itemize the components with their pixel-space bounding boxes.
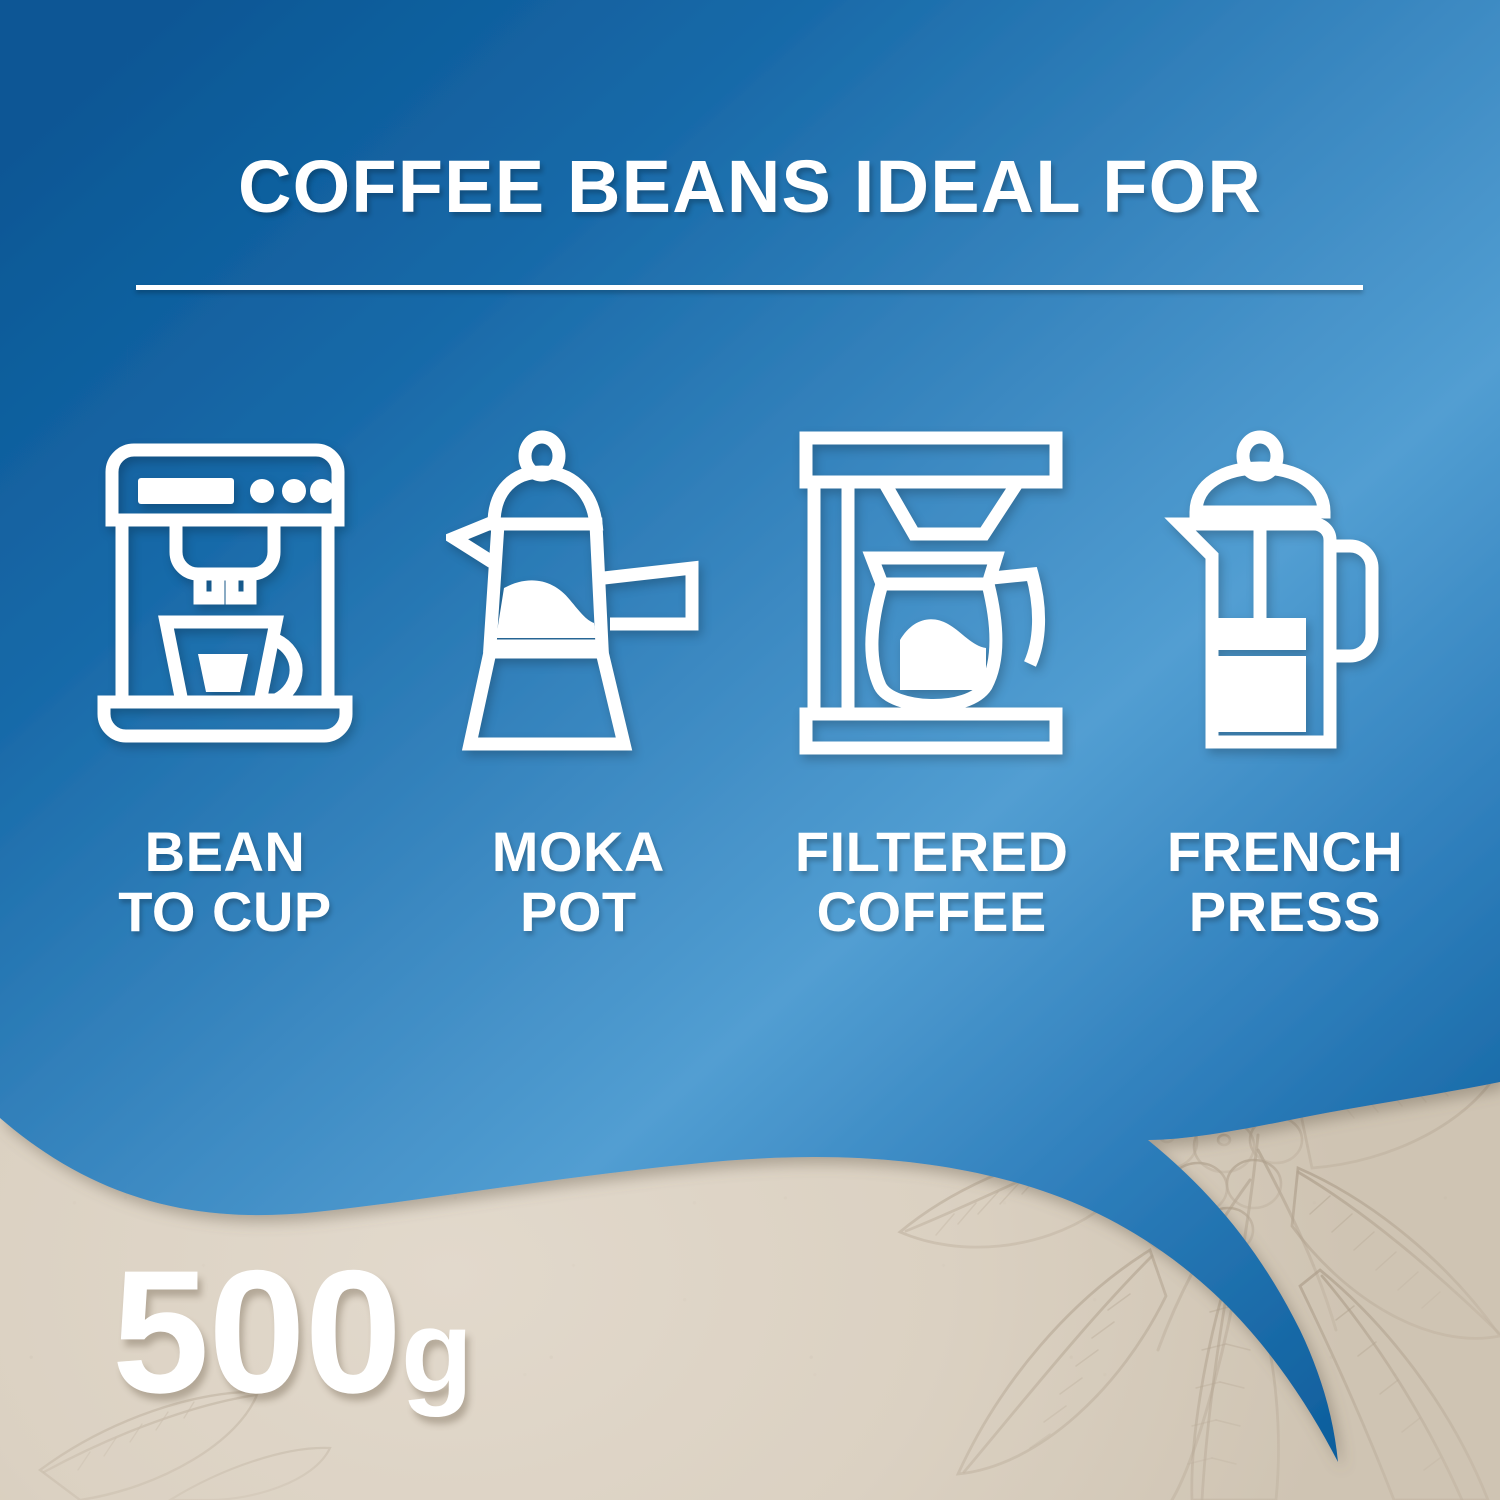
pack-weight-value: 500 xyxy=(112,1235,401,1430)
filter-coffee-machine-icon xyxy=(796,428,1068,758)
bean-to-cup-machine-icon xyxy=(90,428,360,758)
brew-method-label-filtered-coffee: FILTERED COFFEE xyxy=(767,822,1097,942)
moka-pot-icon xyxy=(446,428,711,758)
brew-method-cell-french-press[interactable] xyxy=(1120,420,1450,765)
brew-method-cell-bean-to-cup[interactable] xyxy=(60,420,390,765)
brew-method-label-row: BEAN TO CUP MOKA POT FILTERED COFFEE FRE… xyxy=(60,822,1450,942)
pack-weight: 500g xyxy=(112,1245,472,1420)
brew-method-label-bean-to-cup: BEAN TO CUP xyxy=(60,822,390,942)
product-feature-poster: COFFEE BEANS IDEAL FOR xyxy=(0,0,1500,1500)
pack-weight-unit: g xyxy=(401,1286,472,1418)
french-press-icon xyxy=(1154,428,1416,758)
brew-method-cell-filtered-coffee[interactable] xyxy=(767,420,1097,765)
title-divider xyxy=(136,285,1363,290)
brew-method-label-moka-pot: MOKA POT xyxy=(413,822,743,942)
page-title: COFFEE BEANS IDEAL FOR xyxy=(0,150,1500,224)
brew-method-icon-row xyxy=(60,420,1450,765)
brew-method-label-french-press: FRENCH PRESS xyxy=(1120,822,1450,942)
brew-method-cell-moka-pot[interactable] xyxy=(413,420,743,765)
